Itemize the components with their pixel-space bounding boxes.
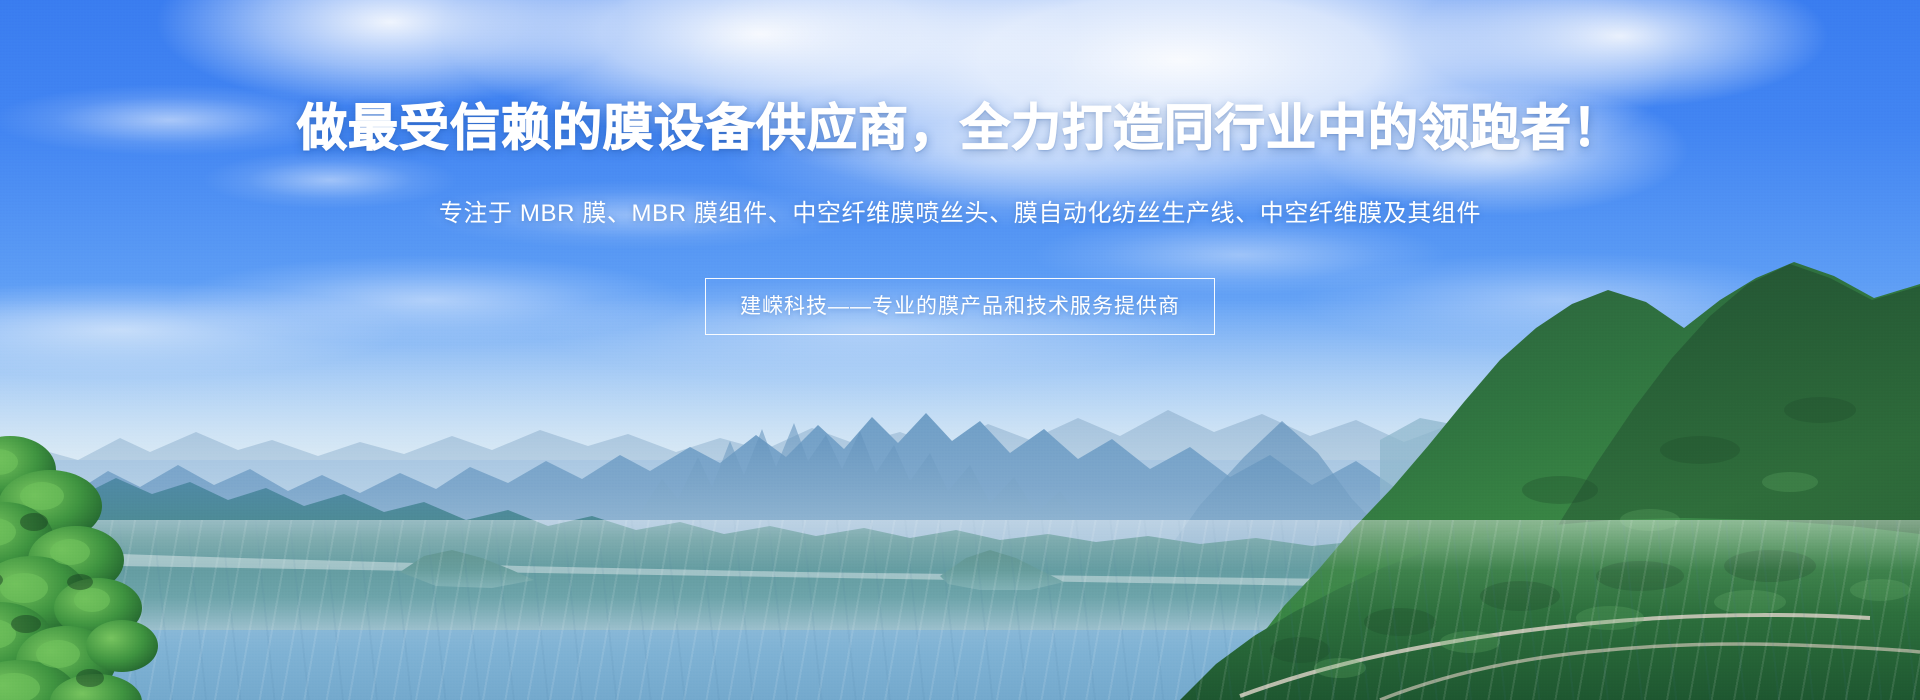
banner-content: 做最受信赖的膜设备供应商，全力打造同行业中的领跑者！ 专注于 MBR 膜、MBR… — [0, 0, 1920, 335]
lake-water — [0, 520, 1920, 700]
banner-tagline-box: 建嵘科技——专业的膜产品和技术服务提供商 — [705, 278, 1215, 335]
banner-tagline-wrapper: 建嵘科技——专业的膜产品和技术服务提供商 — [705, 278, 1215, 335]
far-mountain-ridge — [0, 380, 1920, 510]
hero-banner: 做最受信赖的膜设备供应商，全力打造同行业中的领跑者！ 专注于 MBR 膜、MBR… — [0, 0, 1920, 700]
banner-headline: 做最受信赖的膜设备供应商，全力打造同行业中的领跑者！ — [0, 0, 1920, 159]
banner-subtitle: 专注于 MBR 膜、MBR 膜组件、中空纤维膜喷丝头、膜自动化纺丝生产线、中空纤… — [0, 159, 1920, 232]
